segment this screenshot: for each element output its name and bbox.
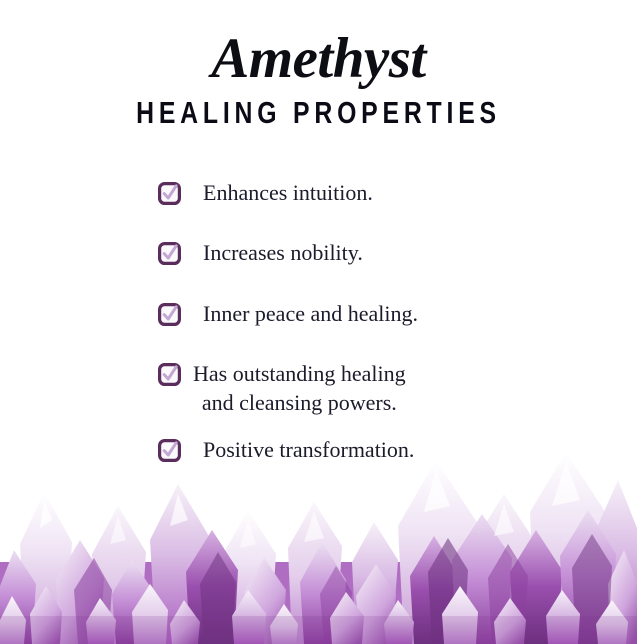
list-item[interactable]: Inner peace and healing. xyxy=(0,299,637,328)
header: Amethyst HEALING PROPERTIES xyxy=(0,0,637,128)
list-item-label: Increases nobility. xyxy=(185,238,363,267)
list-item[interactable]: Enhances intuition. xyxy=(0,178,637,207)
list-item-label: Enhances intuition. xyxy=(185,178,373,207)
poster-root: Amethyst HEALING PROPERTIES Enhances int… xyxy=(0,0,637,644)
list-item[interactable]: Increases nobility. xyxy=(0,238,637,267)
amethyst-crystal-cluster-photo xyxy=(0,444,637,644)
list-item-label: Has outstanding healing and cleansing po… xyxy=(185,359,406,418)
healing-properties-list: Enhances intuition. Increases nobility. … xyxy=(0,178,637,465)
checkbox-checked-icon[interactable] xyxy=(158,303,181,326)
checkbox-checked-icon[interactable] xyxy=(158,242,181,265)
checkbox-checked-icon[interactable] xyxy=(158,182,181,205)
page-title: Amethyst xyxy=(0,30,637,87)
list-item[interactable]: Has outstanding healing and cleansing po… xyxy=(0,359,637,418)
page-subtitle: HEALING PROPERTIES xyxy=(64,97,574,128)
list-item-label: Inner peace and healing. xyxy=(185,299,418,328)
checkbox-checked-icon[interactable] xyxy=(158,363,181,386)
